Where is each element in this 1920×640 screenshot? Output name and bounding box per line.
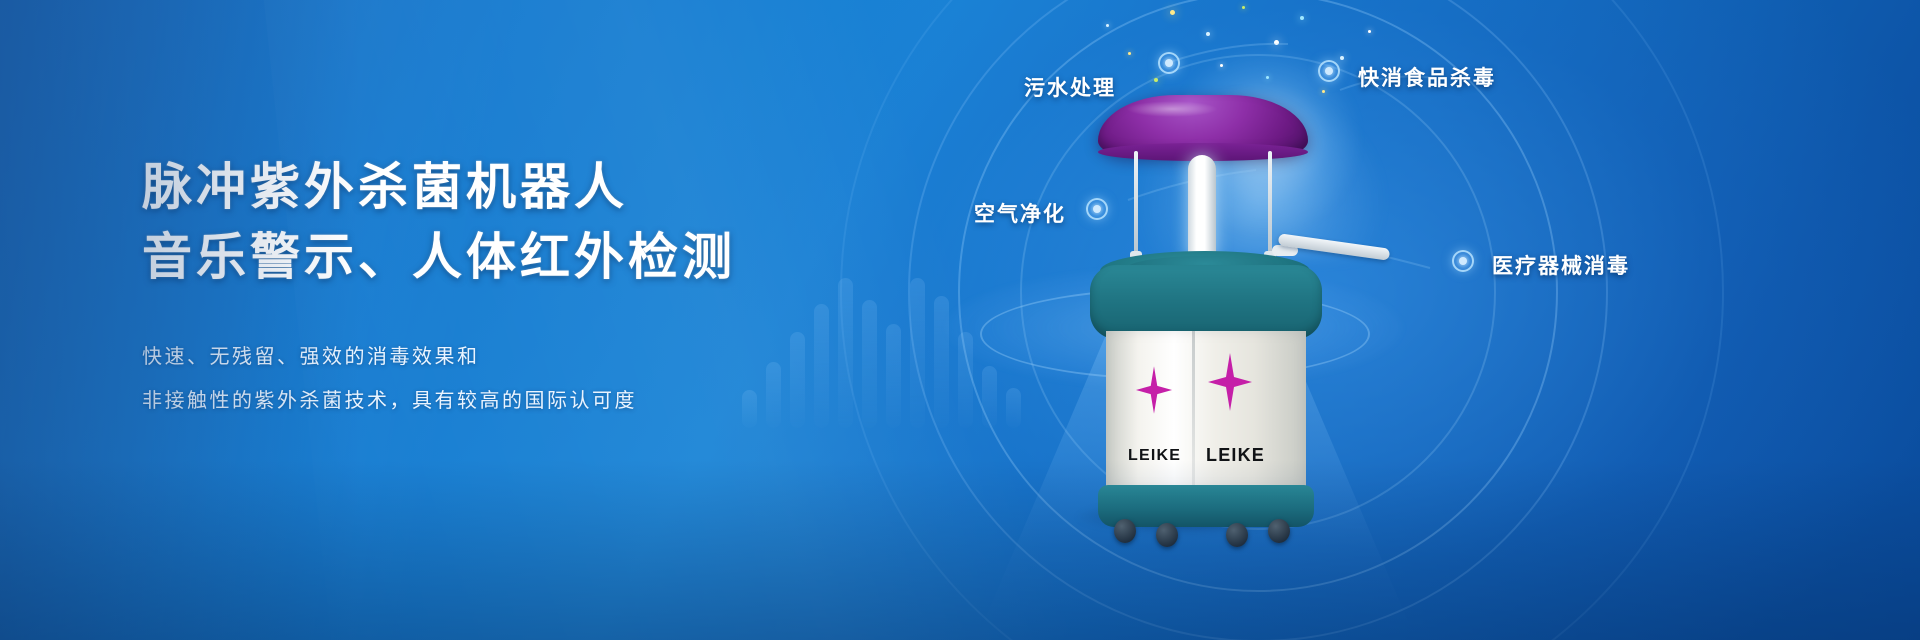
robot-handle bbox=[1278, 233, 1391, 260]
sparkle-particle bbox=[1106, 24, 1109, 27]
headline-block: 脉冲紫外杀菌机器人 音乐警示、人体红外检测 快速、无残留、强效的消毒效果和 非接… bbox=[142, 150, 882, 422]
robot-uv-lamp bbox=[1188, 155, 1216, 259]
callout-node-fmcg bbox=[1318, 60, 1340, 82]
robot-wheel bbox=[1226, 523, 1248, 547]
callout-wastewater-treatment: 污水处理 bbox=[1024, 72, 1116, 102]
sparkle-particle bbox=[1242, 6, 1245, 9]
callout-node-air bbox=[1086, 198, 1108, 220]
sparkle-particle bbox=[1170, 10, 1175, 15]
sparkle-particle bbox=[1322, 90, 1325, 93]
subcopy-line-1: 快速、无残留、强效的消毒效果和 bbox=[142, 334, 882, 378]
product-scene: LEIKE LEIKE 污水处理 快消食品杀毒 空气净化 医疗器械消毒 bbox=[870, 0, 1920, 640]
callout-air-purification: 空气净化 bbox=[974, 198, 1066, 228]
sparkle-particle bbox=[1128, 52, 1131, 55]
headline-secondary: 音乐警示、人体红外检测 bbox=[142, 220, 882, 294]
sparkle-particle bbox=[1300, 16, 1304, 20]
sparkle-particle bbox=[1206, 32, 1210, 36]
robot-wheel bbox=[1156, 523, 1178, 547]
robot-wheel bbox=[1114, 519, 1136, 543]
sparkle-star-icon-left bbox=[1136, 366, 1172, 414]
subcopy-block: 快速、无残留、强效的消毒效果和 非接触性的紫外杀菌技术，具有较高的国际认可度 bbox=[142, 334, 882, 422]
callout-node-medical bbox=[1452, 250, 1474, 272]
sparkle-particle bbox=[1220, 64, 1223, 67]
sparkle-particle bbox=[1368, 30, 1371, 33]
callout-medical-device-disinfection: 医疗器械消毒 bbox=[1492, 250, 1630, 280]
uv-disinfection-robot: LEIKE LEIKE bbox=[1040, 95, 1460, 515]
sparkle-particle bbox=[1340, 56, 1344, 60]
callout-node-wastewater bbox=[1158, 52, 1180, 74]
robot-wheel bbox=[1268, 519, 1290, 543]
robot-shoulder bbox=[1090, 265, 1322, 339]
robot-support-rod-right bbox=[1268, 151, 1272, 255]
sparkle-particle bbox=[1266, 76, 1269, 79]
headline-primary: 脉冲紫外杀菌机器人 bbox=[142, 150, 882, 224]
subcopy-line-2: 非接触性的紫外杀菌技术，具有较高的国际认可度 bbox=[142, 378, 882, 422]
brand-label-right: LEIKE bbox=[1206, 445, 1265, 466]
callout-fmcg-food-sterilization: 快消食品杀毒 bbox=[1358, 62, 1496, 92]
sparkle-star-icon-right bbox=[1208, 353, 1252, 411]
robot-support-rod-left bbox=[1134, 151, 1138, 255]
robot-body-seam bbox=[1192, 331, 1195, 489]
sparkle-particle bbox=[1274, 40, 1279, 45]
robot-dome-highlight bbox=[1126, 101, 1218, 117]
promo-banner: 脉冲紫外杀菌机器人 音乐警示、人体红外检测 快速、无残留、强效的消毒效果和 非接… bbox=[0, 0, 1920, 640]
sparkle-particle bbox=[1154, 78, 1158, 82]
brand-label-left: LEIKE bbox=[1128, 447, 1181, 465]
